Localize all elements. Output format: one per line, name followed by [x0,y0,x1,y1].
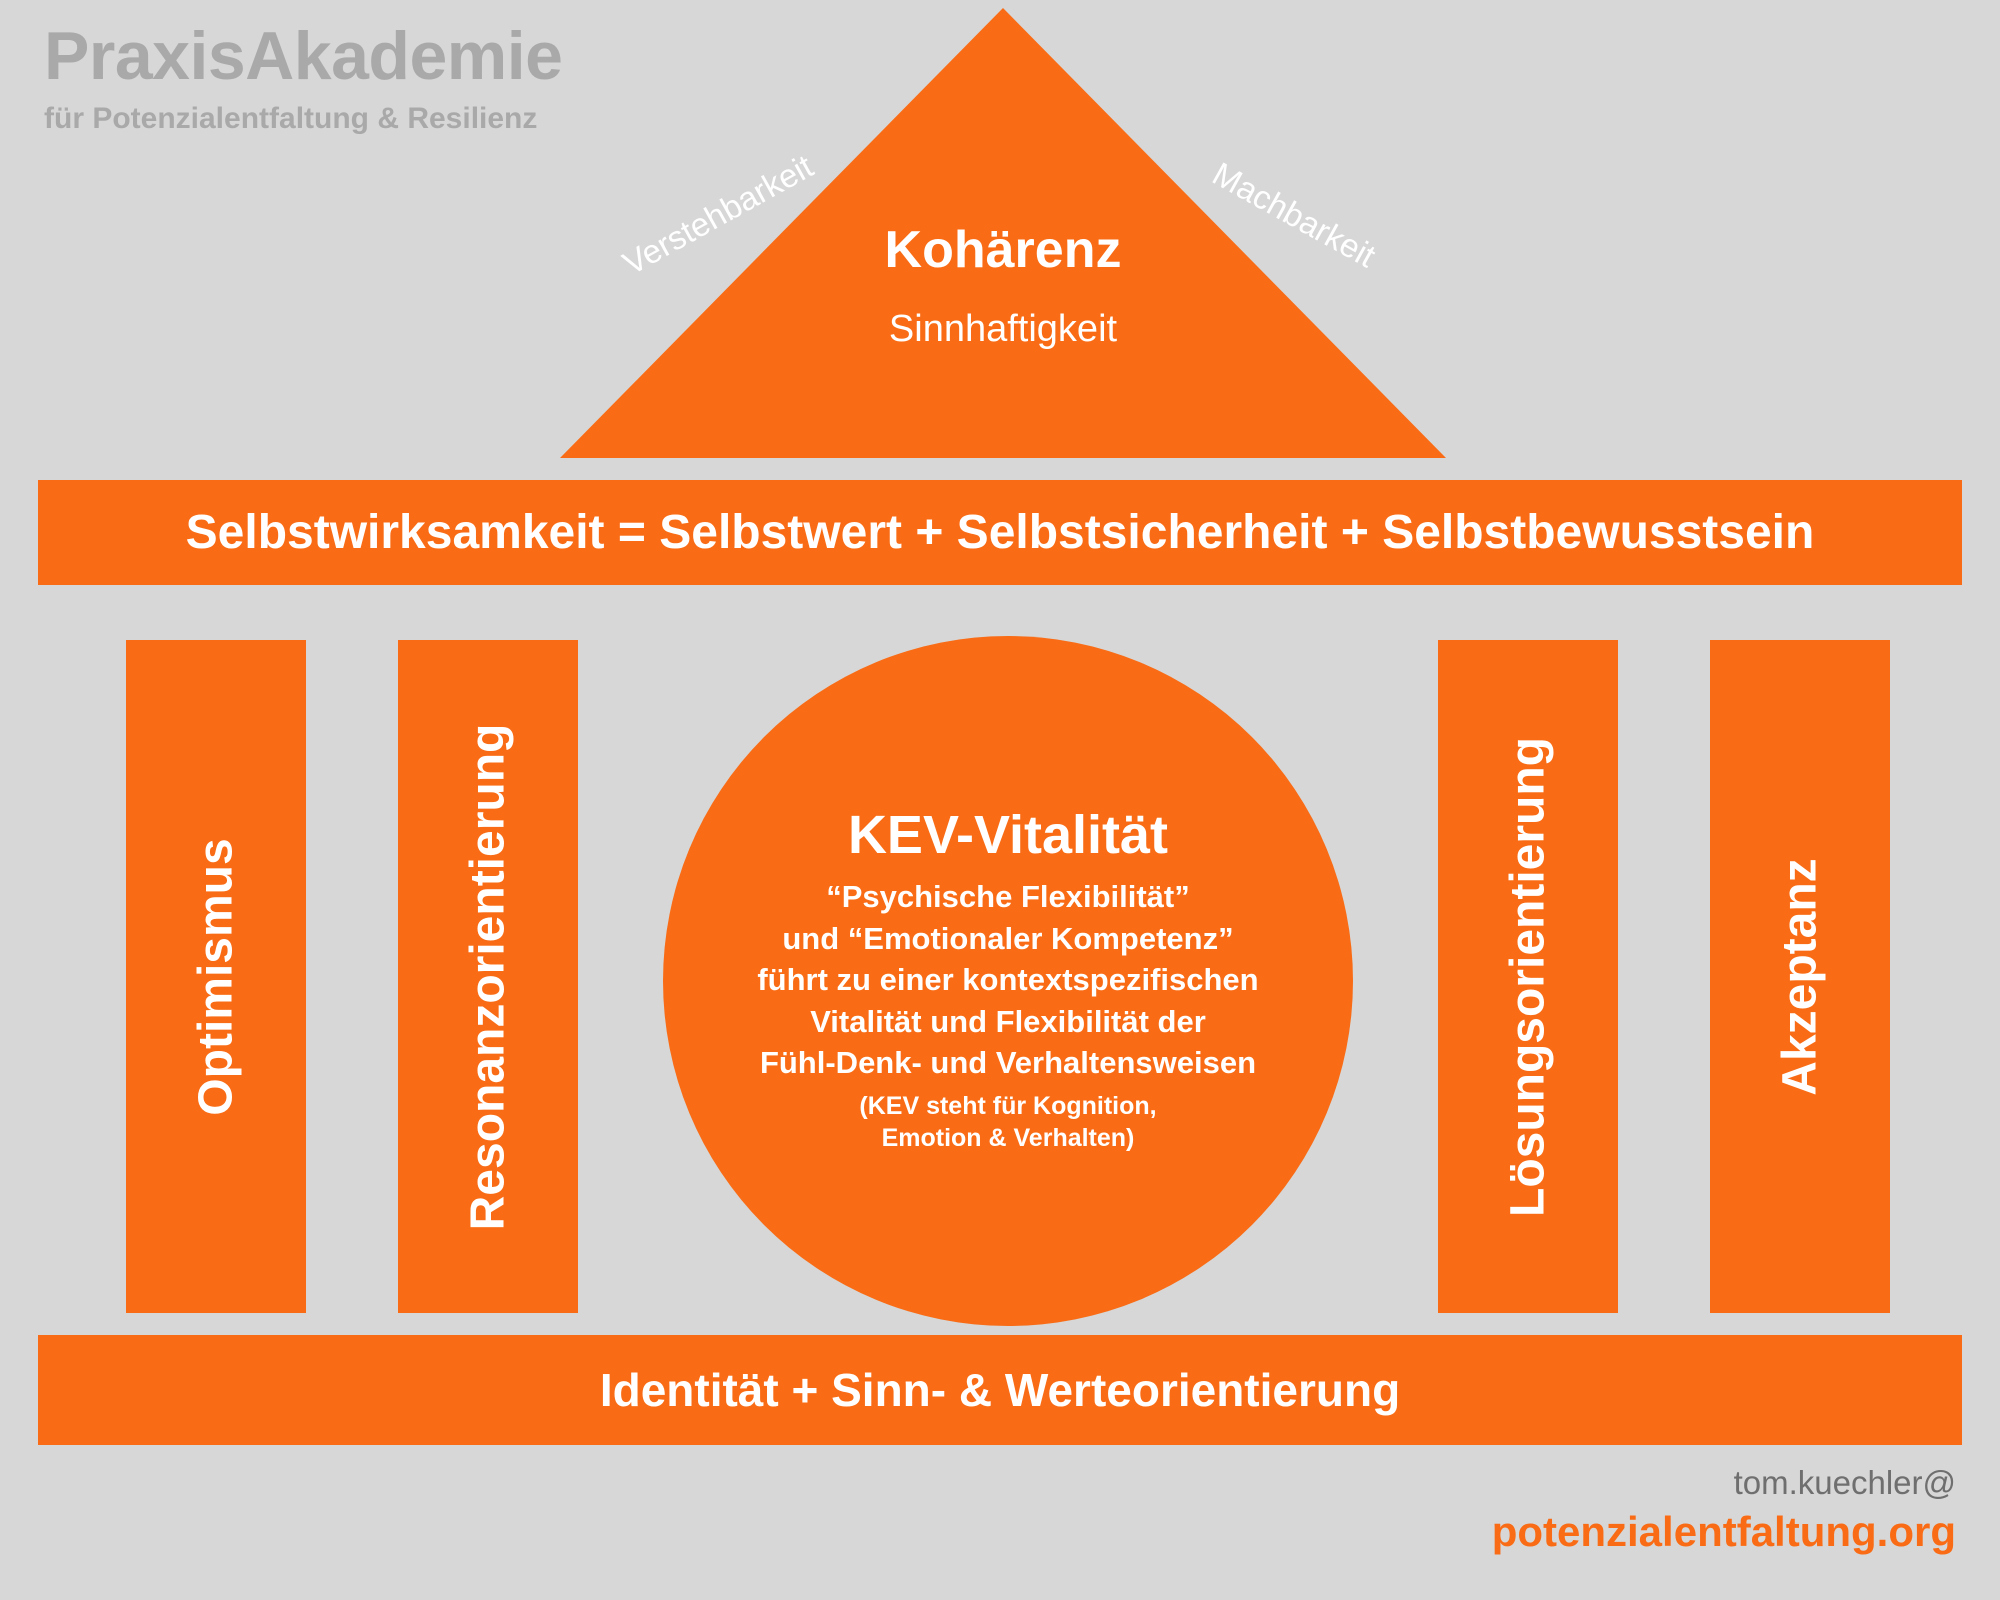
center-circle: KEV-Vitalität “Psychische Flexibilität” … [663,636,1353,1326]
footer-contact: tom.kuechler@ potenzialentfaltung.org [1056,1462,1956,1558]
pediment-title: Kohärenz [560,220,1446,280]
column-resonanzorientierung: Resonanzorientierung [398,640,578,1313]
pediment-subtitle: Sinnhaftigkeit [560,308,1446,351]
circle-note-line: Emotion & Verhalten) [859,1122,1156,1155]
column-label: Resonanzorientierung [461,723,516,1230]
diagram-canvas: PraxisAkademie für Potenzialentfaltung &… [0,0,2000,1600]
circle-title: KEV-Vitalität [848,807,1168,864]
circle-note: (KEV steht für Kognition, Emotion & Verh… [859,1090,1156,1155]
column-optimismus: Optimismus [126,640,306,1313]
circle-body: “Psychische Flexibilität” und “Emotional… [757,876,1258,1084]
column-label: Optimismus [189,838,244,1115]
footer-domain[interactable]: potenzialentfaltung.org [1056,1507,1956,1557]
circle-body-line: Vitalität und Flexibilität der [757,1001,1258,1043]
circle-body-line: Fühl-Denk- und Verhaltensweisen [757,1042,1258,1084]
column-label: Akzeptanz [1773,858,1828,1095]
base-text: Identität + Sinn- & Werteorientierung [600,1363,1400,1417]
brand-logo: PraxisAkademie für Potenzialentfaltung &… [44,22,562,134]
logo-subtitle: für Potenzialentfaltung & Resilienz [44,104,562,134]
circle-body-line: und “Emotionaler Kompetenz” [757,918,1258,960]
circle-body-line: “Psychische Flexibilität” [757,876,1258,918]
logo-title: PraxisAkademie [44,22,562,90]
architrave-text: Selbstwirksamkeit = Selbstwert + Selbsts… [186,505,1815,560]
column-loesungsorientierung: Lösungsorientierung [1438,640,1618,1313]
base-band: Identität + Sinn- & Werteorientierung [38,1335,1962,1445]
footer-email: tom.kuechler@ [1056,1462,1956,1503]
architrave-band: Selbstwirksamkeit = Selbstwert + Selbsts… [38,480,1962,585]
column-label: Lösungsorientierung [1501,737,1556,1217]
circle-body-line: führt zu einer kontextspezifischen [757,959,1258,1001]
circle-note-line: (KEV steht für Kognition, [859,1090,1156,1123]
column-akzeptanz: Akzeptanz [1710,640,1890,1313]
pediment: Verstehbarkeit Machbarkeit Kohärenz Sinn… [560,8,1446,458]
